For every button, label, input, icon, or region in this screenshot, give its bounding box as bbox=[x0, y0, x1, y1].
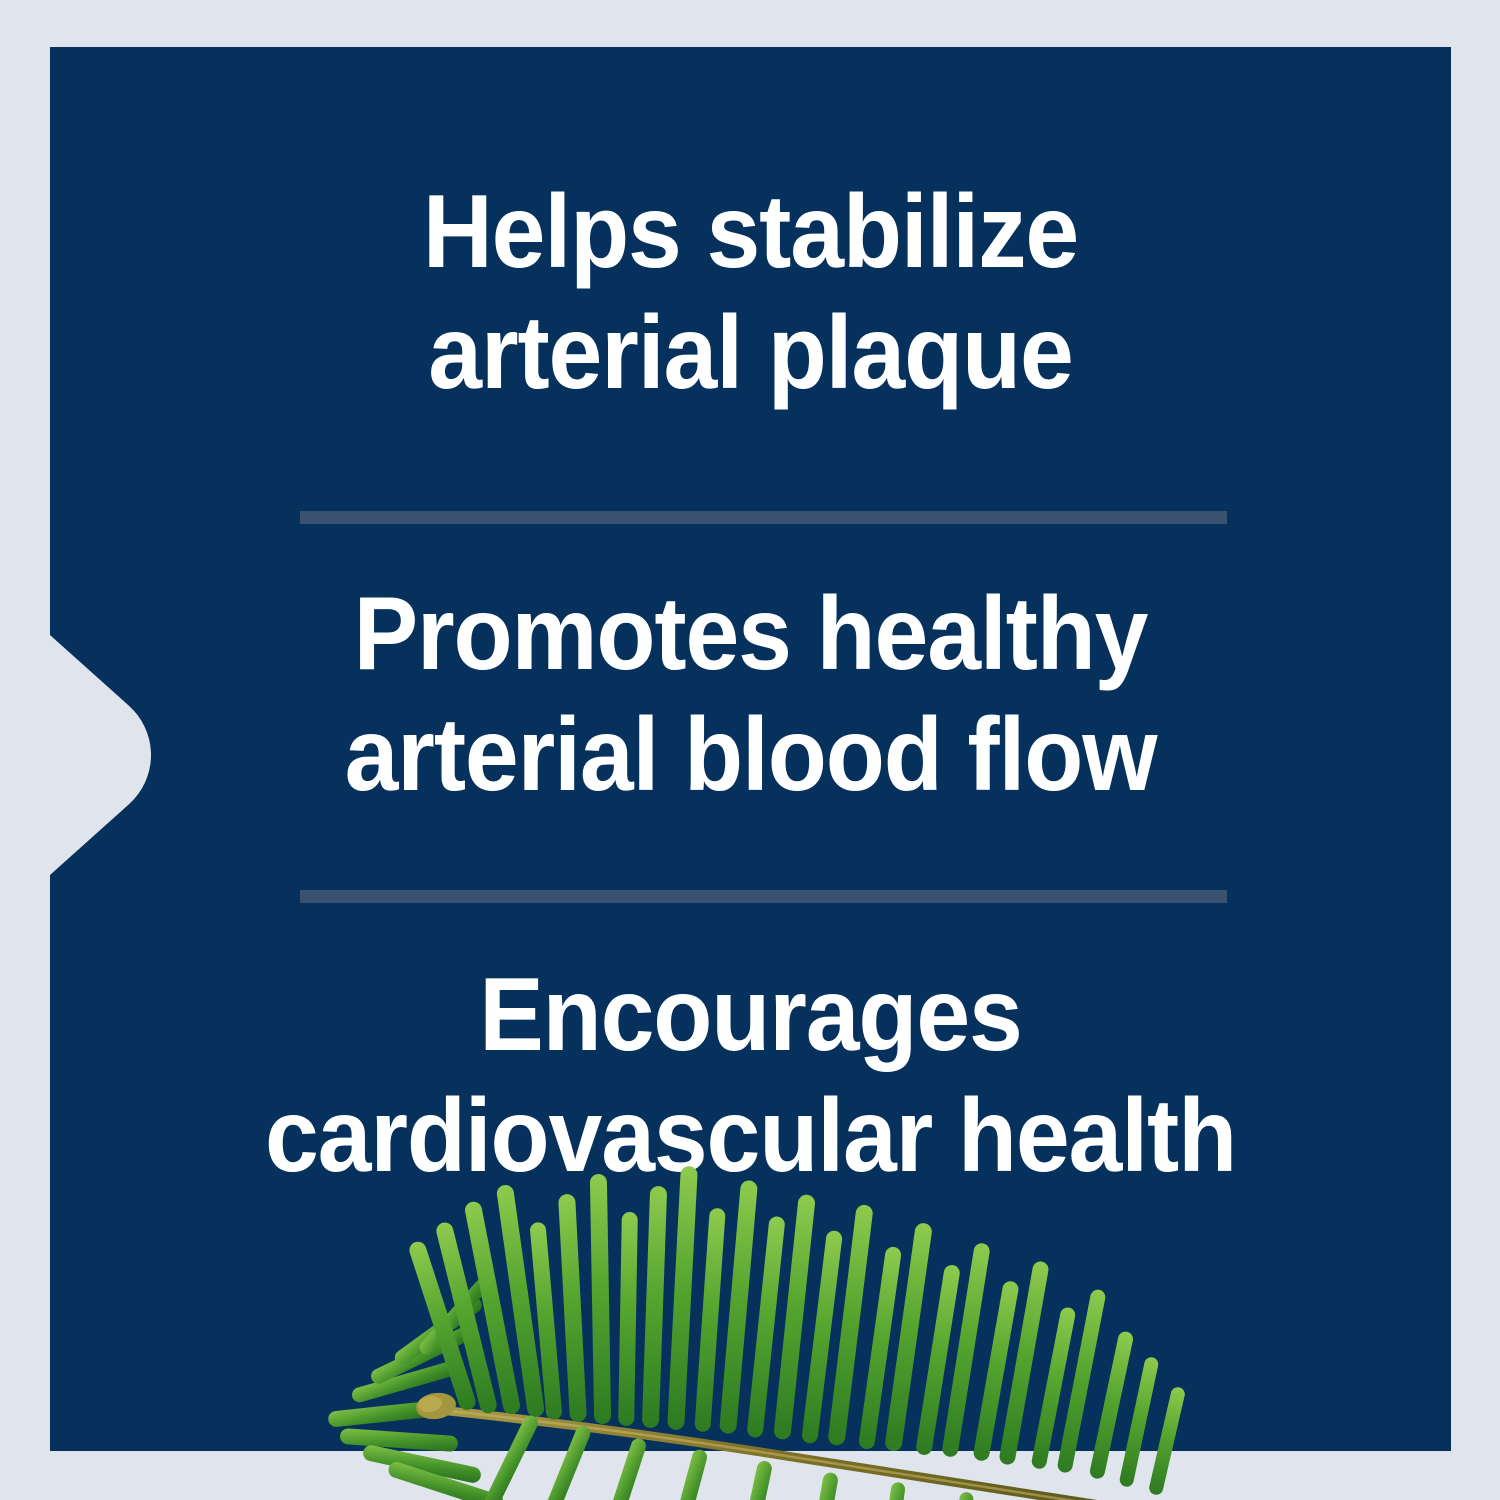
divider-2 bbox=[300, 890, 1227, 903]
benefits-list: Helps stabilize arterial plaque Promotes… bbox=[50, 47, 1451, 1451]
benefit-item-3: Encourages cardiovascular health bbox=[99, 955, 1402, 1196]
benefit-item-1: Helps stabilize arterial plaque bbox=[99, 172, 1402, 413]
benefit-item-2: Promotes healthy arterial blood flow bbox=[99, 574, 1402, 815]
benefits-graphic: Helps stabilize arterial plaque Promotes… bbox=[0, 0, 1500, 1500]
divider-1 bbox=[300, 511, 1227, 524]
